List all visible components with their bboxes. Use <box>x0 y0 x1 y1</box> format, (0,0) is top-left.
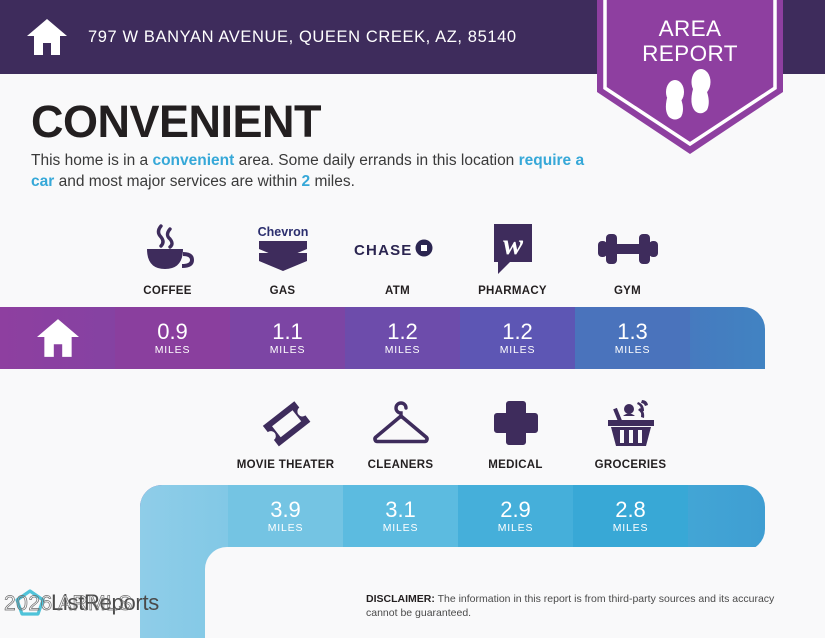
svg-text:CHASE: CHASE <box>354 242 413 259</box>
category-cleaners[interactable]: CLEANERS <box>343 396 458 471</box>
distance-value: 2.9 <box>500 498 531 521</box>
primary-distance-cells: 0.9 MILES 1.1 MILES 1.2 MILES 1.2 MILES … <box>115 307 690 369</box>
distance-value: 1.1 <box>272 320 303 343</box>
summary-part-1: This home is in a <box>31 152 152 169</box>
distance-value: 2.8 <box>615 498 646 521</box>
distance-unit: MILES <box>385 344 421 356</box>
mls-watermark: 2026 ARMLS <box>4 592 133 616</box>
distance-cell: 1.2 MILES <box>460 307 575 369</box>
ticket-icon <box>260 396 312 450</box>
distance-cell: 1.1 MILES <box>230 307 345 369</box>
badge-line-2: REPORT <box>597 41 783 66</box>
category-gym[interactable]: GYM <box>570 222 685 297</box>
category-label: GYM <box>614 285 641 297</box>
category-label: GROCERIES <box>595 459 667 471</box>
distance-cell: 3.1 MILES <box>343 485 458 547</box>
distance-unit: MILES <box>498 522 534 534</box>
area-report-badge: AREA REPORT <box>597 0 783 160</box>
category-groceries[interactable]: GROCERIES <box>573 396 688 471</box>
clothes-hanger-icon <box>370 396 432 450</box>
disclaimer-label: DISCLAIMER: <box>366 593 435 605</box>
distance-unit: MILES <box>270 344 306 356</box>
page-title: CONVENIENT <box>31 96 321 148</box>
distance-cell: 1.3 MILES <box>575 307 690 369</box>
category-coffee[interactable]: COFFEE <box>110 222 225 297</box>
summary-part-3: and most major services are within <box>54 173 301 190</box>
distance-cell: 1.2 MILES <box>345 307 460 369</box>
distance-value: 1.2 <box>502 320 533 343</box>
badge-text: AREA REPORT <box>597 16 783 66</box>
home-icon <box>26 17 68 57</box>
category-label: ATM <box>385 285 410 297</box>
coffee-cup-icon <box>139 222 197 276</box>
distance-unit: MILES <box>155 344 191 356</box>
secondary-icon-row: MOVIE THEATER CLEANERS MEDICAL <box>228 396 688 471</box>
distance-cell: 3.9 MILES <box>228 485 343 547</box>
distance-unit: MILES <box>500 344 536 356</box>
category-label: CLEANERS <box>368 459 434 471</box>
badge-line-1: AREA <box>597 16 783 41</box>
category-label: MEDICAL <box>488 459 543 471</box>
summary-part-4: miles. <box>310 173 355 190</box>
chevron-logo-icon: Chevron <box>251 222 315 276</box>
summary-highlight-1: convenient <box>152 152 234 169</box>
category-label: MOVIE THEATER <box>237 459 335 471</box>
category-label: GAS <box>270 285 296 297</box>
category-movie-theater[interactable]: MOVIE THEATER <box>228 396 343 471</box>
svg-text:Chevron: Chevron <box>257 225 308 239</box>
category-medical[interactable]: MEDICAL <box>458 396 573 471</box>
distance-value: 3.1 <box>385 498 416 521</box>
distance-value: 0.9 <box>157 320 188 343</box>
home-icon <box>35 317 81 359</box>
distance-cell: 2.9 MILES <box>458 485 573 547</box>
category-gas[interactable]: Chevron GAS <box>225 222 340 297</box>
grocery-basket-icon <box>604 396 658 450</box>
category-pharmacy[interactable]: w PHARMACY <box>455 222 570 297</box>
summary-part-2: area. Some daily errands in this locatio… <box>234 152 518 169</box>
category-atm[interactable]: CHASE ATM <box>340 222 455 297</box>
distance-unit: MILES <box>383 522 419 534</box>
chase-logo-icon: CHASE <box>352 222 444 276</box>
property-address: 797 W BANYAN AVENUE, QUEEN CREEK, AZ, 85… <box>88 28 517 47</box>
distance-cell: 2.8 MILES <box>573 485 688 547</box>
distance-cell: 0.9 MILES <box>115 307 230 369</box>
category-label: COFFEE <box>143 285 191 297</box>
distance-unit: MILES <box>615 344 651 356</box>
summary-highlight-3: 2 <box>302 173 311 190</box>
distance-unit: MILES <box>268 522 304 534</box>
category-label: PHARMACY <box>478 285 547 297</box>
area-report-page: 797 W BANYAN AVENUE, QUEEN CREEK, AZ, 85… <box>0 0 825 638</box>
distance-unit: MILES <box>613 522 649 534</box>
secondary-distance-cells: 3.9 MILES 3.1 MILES 2.9 MILES 2.8 MILES <box>228 485 688 547</box>
distance-value: 1.3 <box>617 320 648 343</box>
home-marker <box>0 307 115 369</box>
walgreens-w-icon: w <box>490 222 536 276</box>
summary-text: This home is in a convenient area. Some … <box>31 150 591 192</box>
svg-text:w: w <box>502 228 523 261</box>
distance-value: 3.9 <box>270 498 301 521</box>
dumbbell-icon <box>592 222 664 276</box>
primary-icon-row: COFFEE Chevron GAS CHASE <box>110 222 685 297</box>
medical-cross-icon <box>492 396 540 450</box>
disclaimer: DISCLAIMER: The information in this repo… <box>366 592 796 620</box>
distance-value: 1.2 <box>387 320 418 343</box>
